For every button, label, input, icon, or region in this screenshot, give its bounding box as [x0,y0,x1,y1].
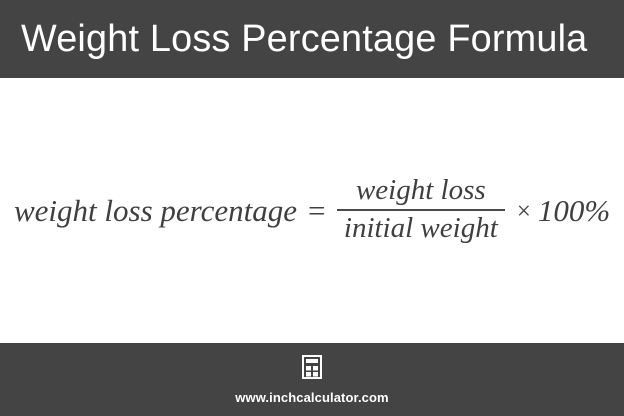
page-title: Weight Loss Percentage Formula [21,20,587,58]
formula-multiplier: 100% [538,194,610,227]
footer-url: www.inchcalculator.com [235,391,388,404]
formula-expression: weight loss percentage = weight loss ini… [14,78,612,343]
multiplication-sign: × [505,198,538,225]
fraction-numerator: weight loss [349,175,493,208]
fraction-denominator: initial weight [337,211,505,244]
footer-band: www.inchcalculator.com [0,343,624,416]
formula-card: Weight Loss Percentage Formula weight lo… [0,0,624,416]
formula-body: weight loss percentage = weight loss ini… [0,78,624,343]
formula-left-side: weight loss percentage [14,194,297,227]
calculator-icon [302,355,322,384]
equals-sign: = [297,194,337,227]
header-band: Weight Loss Percentage Formula [0,0,624,78]
fraction: weight loss initial weight [337,175,505,244]
